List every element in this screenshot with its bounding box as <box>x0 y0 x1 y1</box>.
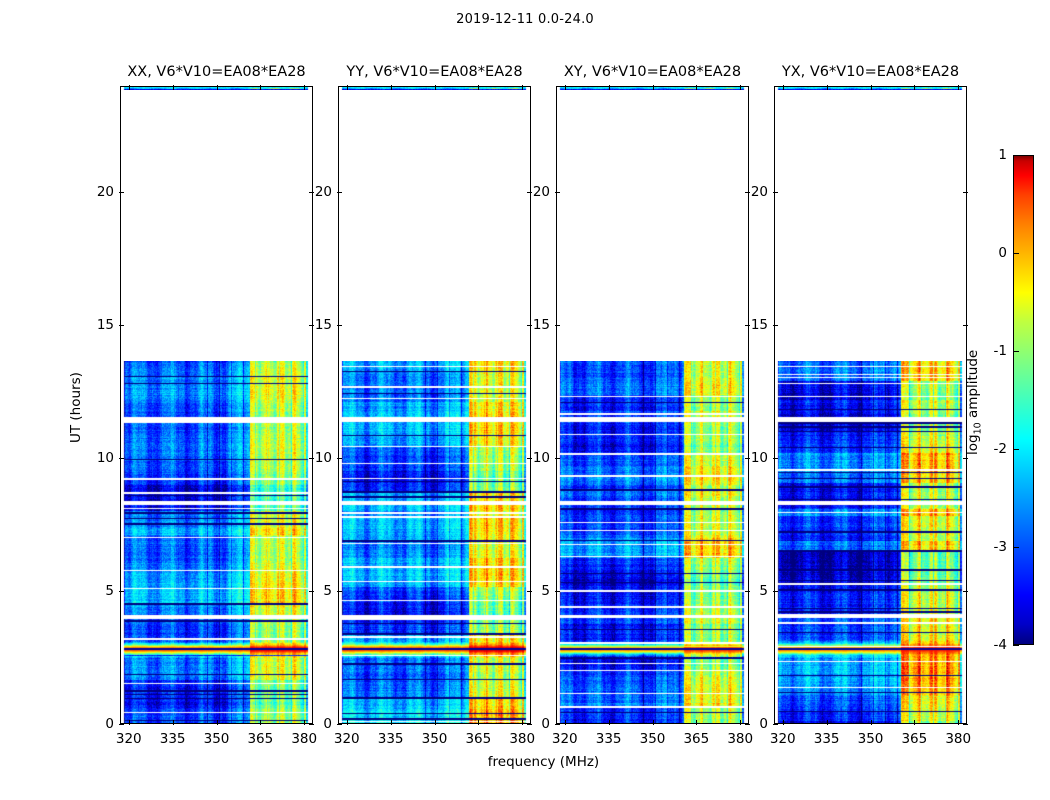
colorbar-label: log10 amplitude <box>965 350 984 455</box>
x-tick <box>783 720 784 725</box>
x-tick <box>260 720 261 725</box>
colorbar-gradient <box>1013 155 1034 645</box>
colorbar-tick <box>1013 155 1019 156</box>
x-tick-top <box>522 85 523 90</box>
y-tick <box>337 325 342 326</box>
colorbar-tick-label: -4 <box>971 637 1007 653</box>
figure-suptitle: 2019-12-11 0.0-24.0 <box>0 12 1050 27</box>
y-tick <box>337 724 342 725</box>
y-tick-label: 15 <box>522 317 550 333</box>
y-tick <box>555 591 560 592</box>
x-tick <box>173 720 174 725</box>
y-tick-label: 0 <box>86 716 114 732</box>
y-tick <box>119 192 124 193</box>
y-tick-label: 20 <box>740 184 768 200</box>
x-axis-label: frequency (MHz) <box>120 754 967 770</box>
x-tick <box>478 720 479 725</box>
panel-title-yy: YY, V6*V10=EA08*EA28 <box>338 64 531 80</box>
y-tick <box>773 724 778 725</box>
y-tick-right <box>963 325 968 326</box>
y-tick-label: 5 <box>304 583 332 599</box>
y-tick <box>555 458 560 459</box>
colorbar-tick-label: 1 <box>971 147 1007 163</box>
x-tick-top <box>783 85 784 90</box>
x-tick <box>347 720 348 725</box>
y-tick <box>773 325 778 326</box>
x-tick-top <box>827 85 828 90</box>
colorbar-tick <box>1013 449 1019 450</box>
axes-frame-xy[interactable] <box>556 86 749 724</box>
x-tick-label: 380 <box>291 731 317 747</box>
colorbar-tick <box>1013 547 1019 548</box>
y-tick-label: 0 <box>522 716 550 732</box>
x-tick-label: 365 <box>465 731 491 747</box>
x-tick-top <box>740 85 741 90</box>
y-tick-label: 0 <box>304 716 332 732</box>
y-tick-label: 10 <box>522 450 550 466</box>
y-tick <box>555 325 560 326</box>
x-tick-top <box>391 85 392 90</box>
x-tick <box>391 720 392 725</box>
x-tick <box>217 720 218 725</box>
x-tick-label: 350 <box>858 731 884 747</box>
x-tick-label: 320 <box>334 731 360 747</box>
colorbar-tick <box>1013 253 1019 254</box>
x-tick <box>609 720 610 725</box>
y-tick-label: 5 <box>740 583 768 599</box>
x-tick-label: 350 <box>204 731 230 747</box>
x-tick-label: 365 <box>901 731 927 747</box>
waterfall-image-yy <box>339 361 530 724</box>
y-tick-label: 20 <box>86 184 114 200</box>
x-tick-top <box>565 85 566 90</box>
x-tick-label: 380 <box>727 731 753 747</box>
axes-frame-xx[interactable] <box>120 86 313 724</box>
x-tick-top <box>958 85 959 90</box>
x-tick-top <box>347 85 348 90</box>
x-tick <box>914 720 915 725</box>
y-tick-label: 10 <box>86 450 114 466</box>
x-tick-label: 335 <box>378 731 404 747</box>
panel-yy: YY, V6*V10=EA08*EA2832033535036538005101… <box>338 86 531 724</box>
waterfall-image-xy <box>557 361 748 724</box>
y-tick <box>555 192 560 193</box>
y-tick <box>337 192 342 193</box>
x-tick-top <box>129 85 130 90</box>
x-tick-label: 380 <box>945 731 971 747</box>
x-tick-label: 380 <box>509 731 535 747</box>
x-tick-label: 365 <box>247 731 273 747</box>
x-tick <box>871 720 872 725</box>
y-tick-label: 15 <box>86 317 114 333</box>
panel-title-xy: XY, V6*V10=EA08*EA28 <box>556 64 749 80</box>
x-tick <box>435 720 436 725</box>
x-tick-top <box>609 85 610 90</box>
colorbar-tick-label: 0 <box>971 245 1007 261</box>
colorbar-tick <box>1013 645 1019 646</box>
y-tick-label: 20 <box>304 184 332 200</box>
x-tick-label: 320 <box>770 731 796 747</box>
y-tick-right <box>963 458 968 459</box>
x-tick-top <box>653 85 654 90</box>
y-tick-label: 20 <box>522 184 550 200</box>
x-tick-top <box>914 85 915 90</box>
y-axis-label: UT (hours) <box>68 372 84 443</box>
y-tick <box>119 458 124 459</box>
y-tick <box>773 591 778 592</box>
figure-canvas: 2019-12-11 0.0-24.0 XX, V6*V10=EA08*EA28… <box>0 0 1050 800</box>
y-tick-label: 0 <box>740 716 768 732</box>
waterfall-image-yx <box>775 361 966 724</box>
panel-xx: XX, V6*V10=EA08*EA2832033535036538005101… <box>120 86 313 724</box>
y-tick <box>119 591 124 592</box>
x-tick-top <box>435 85 436 90</box>
x-tick-top <box>173 85 174 90</box>
y-tick <box>119 325 124 326</box>
x-tick-label: 335 <box>814 731 840 747</box>
y-tick <box>337 591 342 592</box>
x-tick <box>958 720 959 725</box>
y-tick <box>555 724 560 725</box>
x-tick <box>565 720 566 725</box>
panel-title-yx: YX, V6*V10=EA08*EA28 <box>774 64 967 80</box>
y-tick-right <box>963 192 968 193</box>
y-tick <box>773 458 778 459</box>
x-tick-label: 320 <box>116 731 142 747</box>
colorbar-tick <box>1013 351 1019 352</box>
y-tick-label: 15 <box>740 317 768 333</box>
x-tick-top <box>304 85 305 90</box>
x-tick-top <box>217 85 218 90</box>
panel-xy: XY, V6*V10=EA08*EA2832033535036538005101… <box>556 86 749 724</box>
x-tick <box>129 720 130 725</box>
x-tick-label: 350 <box>640 731 666 747</box>
y-tick <box>773 192 778 193</box>
x-tick <box>696 720 697 725</box>
x-tick-top <box>260 85 261 90</box>
x-tick-label: 320 <box>552 731 578 747</box>
x-tick-label: 335 <box>160 731 186 747</box>
x-tick <box>827 720 828 725</box>
panel-title-xx: XX, V6*V10=EA08*EA28 <box>120 64 313 80</box>
y-tick-label: 5 <box>86 583 114 599</box>
colorbar <box>1013 155 1034 645</box>
waterfall-image-xx <box>121 361 312 724</box>
y-tick-label: 10 <box>304 450 332 466</box>
axes-frame-yy[interactable] <box>338 86 531 724</box>
x-tick-label: 365 <box>683 731 709 747</box>
x-tick-label: 350 <box>422 731 448 747</box>
x-tick <box>653 720 654 725</box>
y-tick <box>119 724 124 725</box>
colorbar-tick-label: -3 <box>971 539 1007 555</box>
panel-yx: YX, V6*V10=EA08*EA2832033535036538005101… <box>774 86 967 724</box>
x-tick-label: 335 <box>596 731 622 747</box>
y-tick-label: 10 <box>740 450 768 466</box>
x-tick-top <box>696 85 697 90</box>
y-tick-label: 15 <box>304 317 332 333</box>
x-tick-top <box>871 85 872 90</box>
y-tick-label: 5 <box>522 583 550 599</box>
y-tick-right <box>963 591 968 592</box>
y-tick <box>337 458 342 459</box>
y-tick-right <box>963 724 968 725</box>
x-tick-top <box>478 85 479 90</box>
axes-frame-yx[interactable] <box>774 86 967 724</box>
